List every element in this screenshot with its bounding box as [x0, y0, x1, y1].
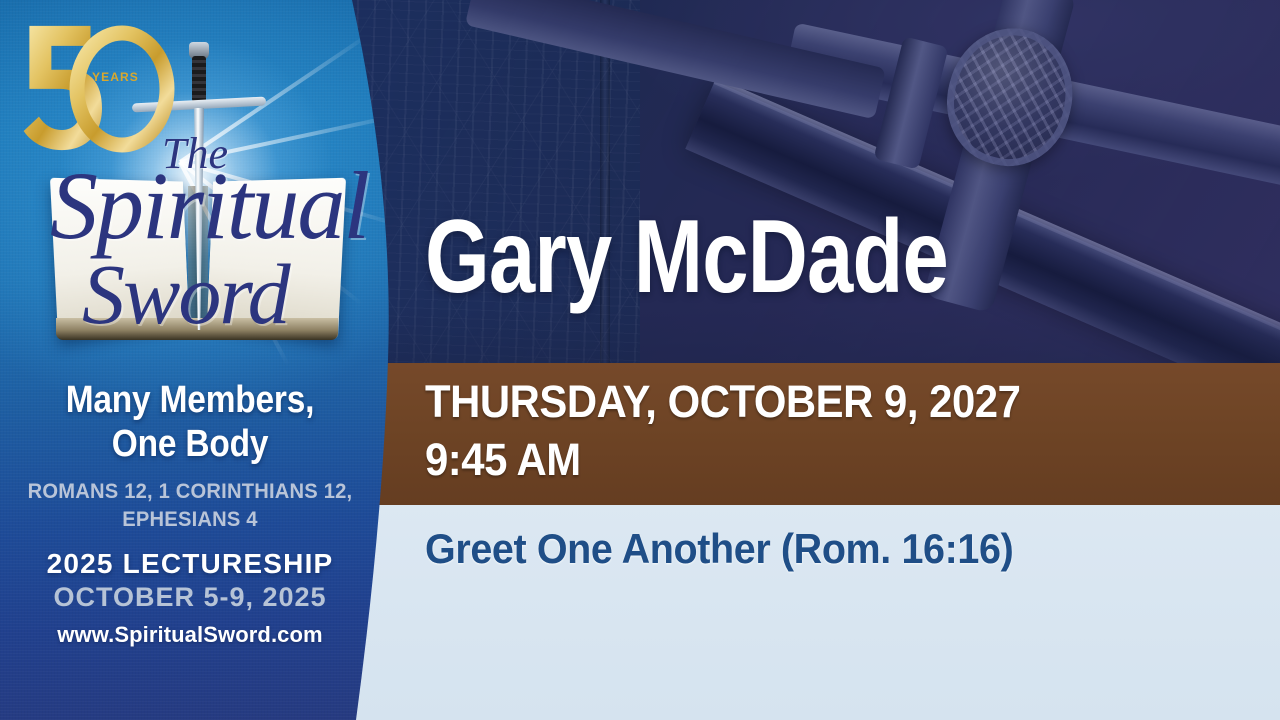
bible-right-page-icon	[207, 178, 346, 340]
lectureship-slide: Gary McDade THURSDAY, OCTOBER 9, 2027 9:…	[0, 0, 1280, 720]
number-zero-icon	[66, 24, 178, 154]
session-date-time: THURSDAY, OCTOBER 9, 2027 9:45 AM	[425, 373, 1202, 489]
website-url[interactable]: www.SpiritualSword.com	[0, 620, 380, 650]
lectureship-dates: OCTOBER 5-9, 2025	[0, 580, 380, 614]
fifty-years-badge: YEARS	[14, 18, 174, 158]
lectureship-theme: Many Members, One Body	[23, 378, 357, 466]
emblem-blade-icon	[194, 108, 204, 330]
speaker-name: Gary McDade	[425, 205, 948, 309]
scripture-references: ROMANS 12, 1 CORINTHIANS 12, EPHESIANS 4	[8, 478, 373, 534]
bible-left-page-icon	[50, 178, 189, 340]
sword-emblem-icon	[186, 42, 212, 332]
lectureship-label: 2025 LECTURESHIP	[0, 547, 380, 581]
brand-sidebar: The Spiritual Sword	[0, 0, 400, 720]
years-label: YEARS	[92, 70, 139, 84]
sermon-title: Greet One Another (Rom. 16:16)	[425, 524, 1013, 574]
emblem-handle-icon	[192, 56, 206, 102]
